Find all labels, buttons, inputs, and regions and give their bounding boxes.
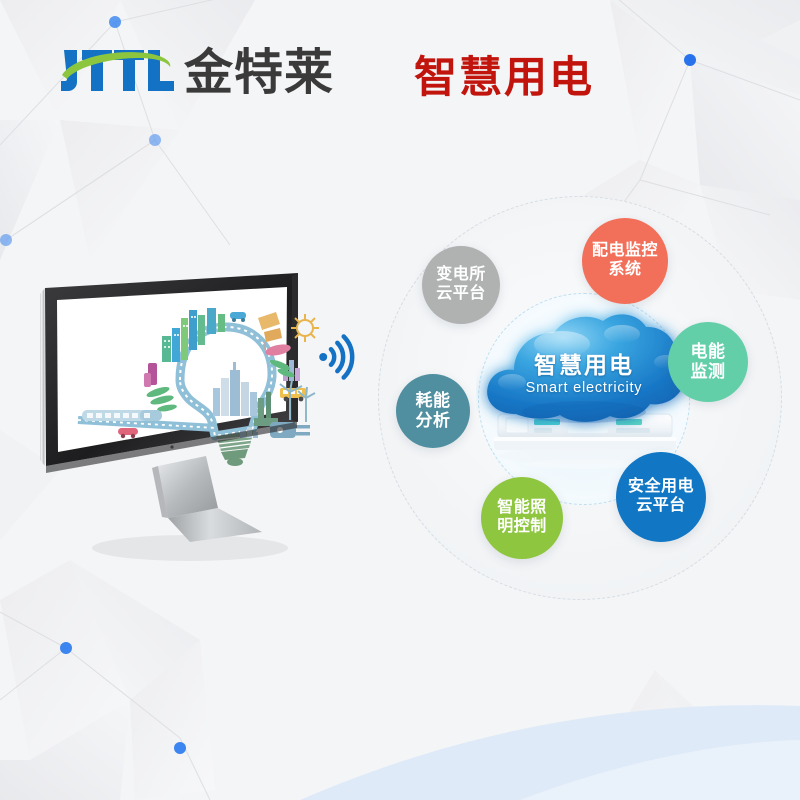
brand-logo[interactable]: 金特莱 [58,42,358,106]
bubble-label: 智能照 明控制 [497,499,547,536]
brand-name-cn: 金特莱 [184,44,334,102]
wifi-signal-icon [313,327,373,387]
jtl-swoosh-logo-icon [58,42,178,104]
bubble-label: 安全用电 云平台 [628,478,694,515]
diagram-bubble[interactable]: 变电所 云平台 [422,246,500,324]
diagram-bubble[interactable]: 配电监控 系统 [582,218,668,304]
bubble-label: 配电监控 系统 [592,242,658,279]
diagram-bubble[interactable]: 电能 监测 [668,322,748,402]
cloud-icon: 智慧用电 Smart electricity [476,296,692,456]
diagram-bubble[interactable]: 安全用电 云平台 [616,452,706,542]
page-slogan: 智慧用电 [414,50,594,106]
diagram-bubble[interactable]: 智能照 明控制 [481,477,563,559]
bubble-label: 变电所 云平台 [436,266,486,303]
bubble-label: 电能 监测 [691,342,726,381]
diagram-bubble[interactable]: 耗能 分析 [396,374,470,448]
page-header: 金特莱 智慧用电 [0,0,800,150]
bubble-label: 耗能 分析 [416,391,451,430]
monitor-illustration [40,270,340,570]
smart-electricity-diagram: 智慧用电 Smart electricity 变电所 云平台配电监控 系统电能 … [370,188,790,613]
